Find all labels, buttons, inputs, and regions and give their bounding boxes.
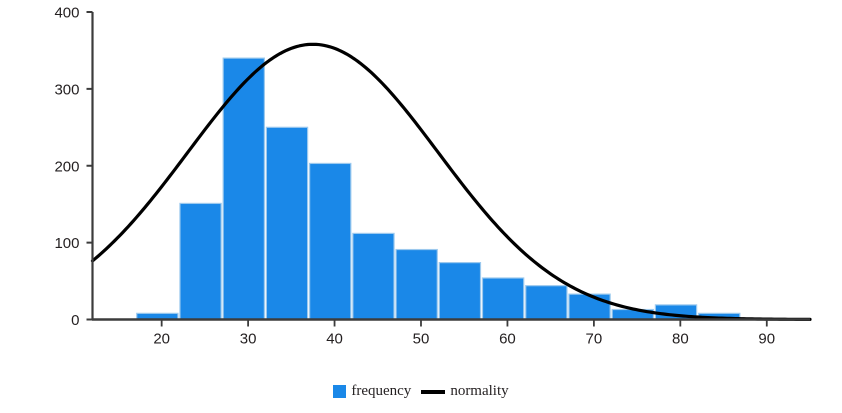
legend-label-normality: normality <box>450 383 508 400</box>
legend-item-normality[interactable]: normality <box>421 383 508 400</box>
legend-line-marker-icon <box>421 390 445 394</box>
histogram-bar <box>396 250 437 320</box>
x-tick-label: 20 <box>153 331 170 348</box>
y-axis-ticks: 0100200300400 <box>54 5 92 330</box>
histogram-bar <box>180 203 221 319</box>
bars-group <box>137 58 740 319</box>
histogram-bar <box>569 294 610 319</box>
x-axis: 2030405060708090 <box>92 320 810 348</box>
legend-label-frequency: frequency <box>351 383 411 400</box>
x-tick-label: 70 <box>586 331 603 348</box>
histogram-bar <box>266 127 307 319</box>
histogram-bar <box>526 286 567 320</box>
legend-square-marker-icon <box>333 385 346 398</box>
x-tick-label: 40 <box>326 331 343 348</box>
y-tick-label: 200 <box>54 158 79 175</box>
histogram-bar <box>353 233 394 319</box>
x-tick-label: 80 <box>672 331 689 348</box>
histogram-bar <box>483 278 524 320</box>
y-tick-label: 100 <box>54 235 79 252</box>
legend-item-frequency[interactable]: frequency <box>333 383 411 400</box>
histogram-bar <box>439 263 480 320</box>
chart-plot-area: 0100200300400 2030405060708090 <box>0 0 842 413</box>
chart-legend: frequency normality <box>0 383 842 400</box>
y-axis: 0100200300400 <box>54 5 92 330</box>
x-axis-ticks: 2030405060708090 <box>153 321 775 348</box>
x-tick-label: 60 <box>499 331 516 348</box>
x-tick-label: 50 <box>413 331 430 348</box>
y-tick-label: 0 <box>71 312 79 329</box>
histogram-bar <box>310 163 351 319</box>
y-tick-label: 400 <box>54 5 79 22</box>
y-tick-label: 300 <box>54 81 79 98</box>
x-tick-label: 30 <box>240 331 257 348</box>
histogram-chart: 0100200300400 2030405060708090 frequency… <box>0 0 842 413</box>
x-tick-label: 90 <box>758 331 775 348</box>
